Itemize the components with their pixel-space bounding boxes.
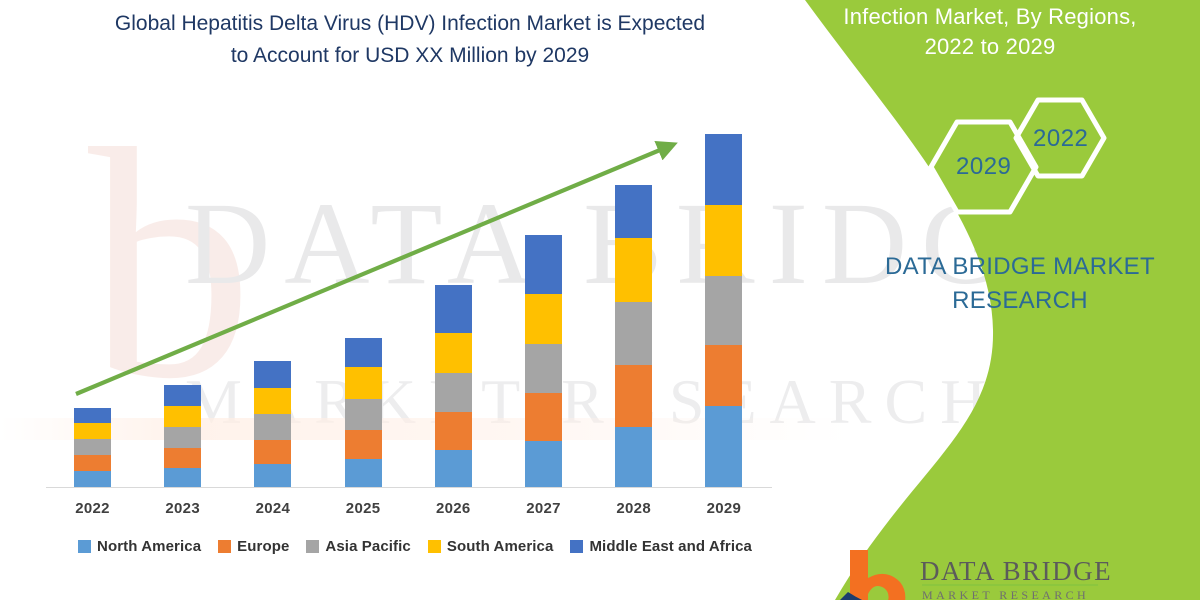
legend-label: Europe: [237, 538, 289, 555]
stacked-bar-chart: 20222023202420252026202720282029: [0, 0, 850, 600]
x-axis-label-2025: 2025: [318, 500, 408, 517]
bar-segment-asia-pacific: [164, 427, 201, 448]
x-axis-label-2024: 2024: [228, 500, 318, 517]
bar-segment-south-america: [705, 205, 742, 276]
bar-2023[interactable]: [164, 385, 201, 487]
page-title-line-1: Global Hepatitis Delta Virus (HDV) Infec…: [30, 8, 790, 40]
x-axis-label-2026: 2026: [408, 500, 498, 517]
bar-segment-asia-pacific: [525, 344, 562, 393]
legend-swatch-icon: [218, 540, 231, 553]
bar-segment-europe: [254, 440, 291, 464]
logo-subtext: MARKET RESEARCH: [922, 588, 1089, 600]
bar-segment-north-america: [615, 427, 652, 487]
bar-segment-south-america: [435, 333, 472, 373]
panel-title-line-1: Infection Market, By Regions,: [780, 2, 1200, 32]
bar-segment-south-america: [254, 388, 291, 414]
bar-segment-south-america: [615, 238, 652, 302]
panel-brand-line-2: RESEARCH: [860, 284, 1180, 318]
x-axis-line: [46, 487, 772, 488]
bar-segment-middle-east-and-africa: [254, 361, 291, 388]
bar-segment-north-america: [435, 450, 472, 487]
page-title: Global Hepatitis Delta Virus (HDV) Infec…: [30, 8, 790, 72]
x-axis-label-2023: 2023: [138, 500, 228, 517]
bar-segment-south-america: [164, 406, 201, 427]
bar-2024[interactable]: [254, 361, 291, 487]
bar-segment-middle-east-and-africa: [164, 385, 201, 406]
legend-swatch-icon: [570, 540, 583, 553]
legend-swatch-icon: [428, 540, 441, 553]
data-bridge-logo: DATA BRIDGE MARKET RESEARCH: [838, 548, 1158, 600]
legend-item-south-america[interactable]: South America: [428, 538, 554, 555]
legend-label: North America: [97, 538, 201, 555]
bar-segment-south-america: [345, 367, 382, 399]
logo-divider: [922, 584, 1098, 586]
hexagon-2029-label: 2029: [956, 153, 1011, 181]
legend-item-asia-pacific[interactable]: Asia Pacific: [306, 538, 410, 555]
bar-segment-europe: [74, 455, 111, 471]
bar-segment-middle-east-and-africa: [345, 338, 382, 367]
bar-segment-europe: [615, 365, 652, 427]
panel-title: Infection Market, By Regions, 2022 to 20…: [780, 0, 1200, 62]
logo-mark-icon: [838, 548, 928, 600]
logo-text: DATA BRIDGE: [920, 556, 1112, 586]
bar-segment-south-america: [74, 423, 111, 439]
bar-segment-north-america: [345, 459, 382, 487]
bar-2022[interactable]: [74, 408, 111, 487]
legend-label: Middle East and Africa: [589, 538, 752, 555]
bar-segment-asia-pacific: [435, 373, 472, 412]
bar-segment-asia-pacific: [345, 399, 382, 430]
bar-segment-south-america: [525, 294, 562, 344]
bar-segment-europe: [164, 448, 201, 468]
bar-segment-asia-pacific: [254, 414, 291, 440]
bar-segment-europe: [525, 393, 562, 441]
legend-swatch-icon: [306, 540, 319, 553]
bar-segment-europe: [345, 430, 382, 459]
x-axis-label-2029: 2029: [679, 500, 769, 517]
x-axis-label-2022: 2022: [48, 500, 138, 517]
hexagon-2022-label: 2022: [1033, 125, 1088, 153]
bar-segment-north-america: [525, 441, 562, 487]
bar-segment-middle-east-and-africa: [705, 134, 742, 205]
legend-label: Asia Pacific: [325, 538, 410, 555]
bar-segment-asia-pacific: [705, 276, 742, 345]
bar-2025[interactable]: [345, 338, 382, 487]
bar-segment-middle-east-and-africa: [435, 285, 472, 333]
bar-segment-europe: [435, 412, 472, 450]
infographic-canvas: b DATA BRIDGE MARKET RESEARCH 2022202320…: [0, 0, 1200, 600]
legend-swatch-icon: [78, 540, 91, 553]
bar-segment-middle-east-and-africa: [74, 408, 111, 423]
legend-label: South America: [447, 538, 554, 555]
bar-segment-north-america: [254, 464, 291, 487]
bar-segment-middle-east-and-africa: [615, 185, 652, 238]
bar-segment-asia-pacific: [615, 302, 652, 365]
chart-legend: North AmericaEuropeAsia PacificSouth Ame…: [0, 538, 830, 555]
legend-item-middle-east-and-africa[interactable]: Middle East and Africa: [570, 538, 752, 555]
bar-2028[interactable]: [615, 185, 652, 487]
bar-2026[interactable]: [435, 285, 472, 487]
x-axis-label-2028: 2028: [589, 500, 679, 517]
panel-brand-line-1: DATA BRIDGE MARKET: [860, 250, 1180, 284]
bar-2027[interactable]: [525, 235, 562, 487]
bar-segment-north-america: [705, 406, 742, 487]
panel-title-line-2: 2022 to 2029: [780, 32, 1200, 62]
legend-item-north-america[interactable]: North America: [78, 538, 201, 555]
page-title-line-2: to Account for USD XX Million by 2029: [30, 40, 790, 72]
hexagon-badges: 2029 2022: [900, 95, 1130, 230]
panel-brand-name: DATA BRIDGE MARKET RESEARCH: [860, 250, 1180, 318]
bar-segment-europe: [705, 345, 742, 406]
bar-segment-north-america: [164, 468, 201, 487]
legend-item-europe[interactable]: Europe: [218, 538, 289, 555]
x-axis-label-2027: 2027: [499, 500, 589, 517]
bar-2029[interactable]: [705, 134, 742, 487]
bar-segment-north-america: [74, 471, 111, 487]
bar-segment-asia-pacific: [74, 439, 111, 455]
bar-segment-middle-east-and-africa: [525, 235, 562, 294]
